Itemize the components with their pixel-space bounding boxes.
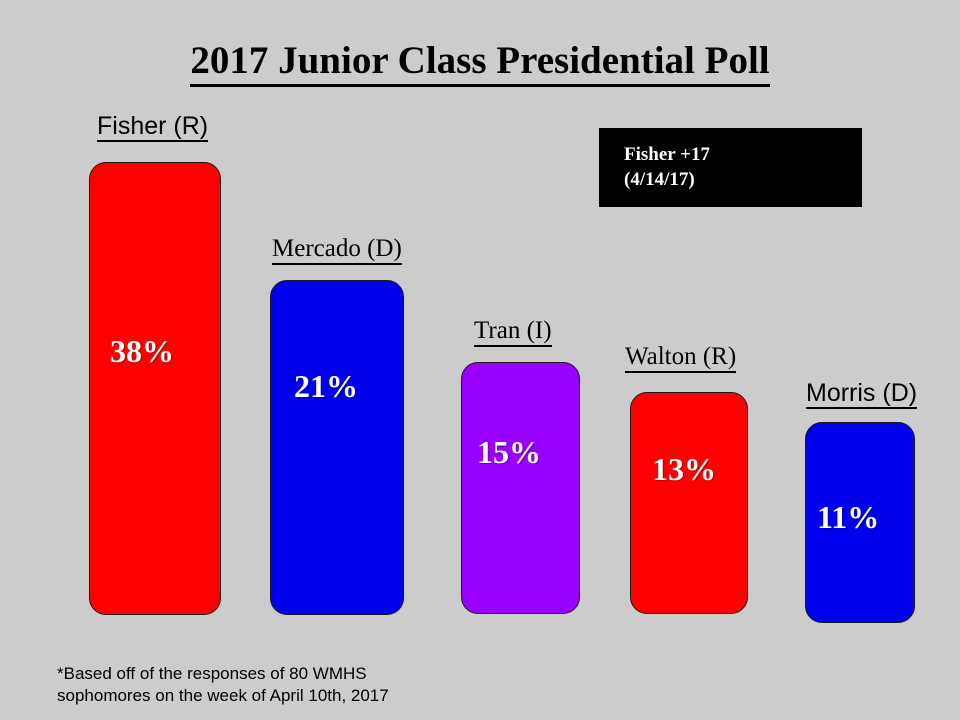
bar-label-morris: Morris (D) — [806, 380, 917, 409]
page-title-text: 2017 Junior Class Presidential Poll — [190, 39, 769, 87]
bar-rect-walton — [630, 392, 748, 614]
bar-label-fisher: Fisher (R) — [97, 113, 208, 142]
bar-value-tran: 15% — [477, 434, 541, 471]
bar-rect-mercado — [270, 280, 404, 615]
annotation-line-1: Fisher +17 — [624, 142, 862, 167]
bar-value-fisher: 38% — [110, 333, 174, 370]
bar-label-tran: Tran (I) — [474, 318, 552, 347]
chart-canvas: 2017 Junior Class Presidential Poll Fish… — [0, 0, 960, 720]
annotation-line-2: (4/14/17) — [624, 167, 862, 192]
bar-rect-tran — [461, 362, 580, 614]
bar-label-walton: Walton (R) — [625, 344, 736, 373]
bar-value-mercado: 21% — [294, 368, 358, 405]
bar-rect-fisher — [89, 162, 221, 615]
bar-value-morris: 11% — [817, 499, 879, 536]
annotation-callout: Fisher +17 (4/14/17) — [599, 128, 862, 207]
bar-label-mercado: Mercado (D) — [272, 236, 402, 265]
footnote-line-2: sophomores on the week of April 10th, 20… — [57, 685, 389, 707]
footnote: *Based off of the responses of 80 WMHS s… — [57, 663, 389, 707]
bar-value-walton: 13% — [652, 451, 716, 488]
footnote-line-1: *Based off of the responses of 80 WMHS — [57, 663, 389, 685]
page-title: 2017 Junior Class Presidential Poll — [0, 38, 960, 83]
